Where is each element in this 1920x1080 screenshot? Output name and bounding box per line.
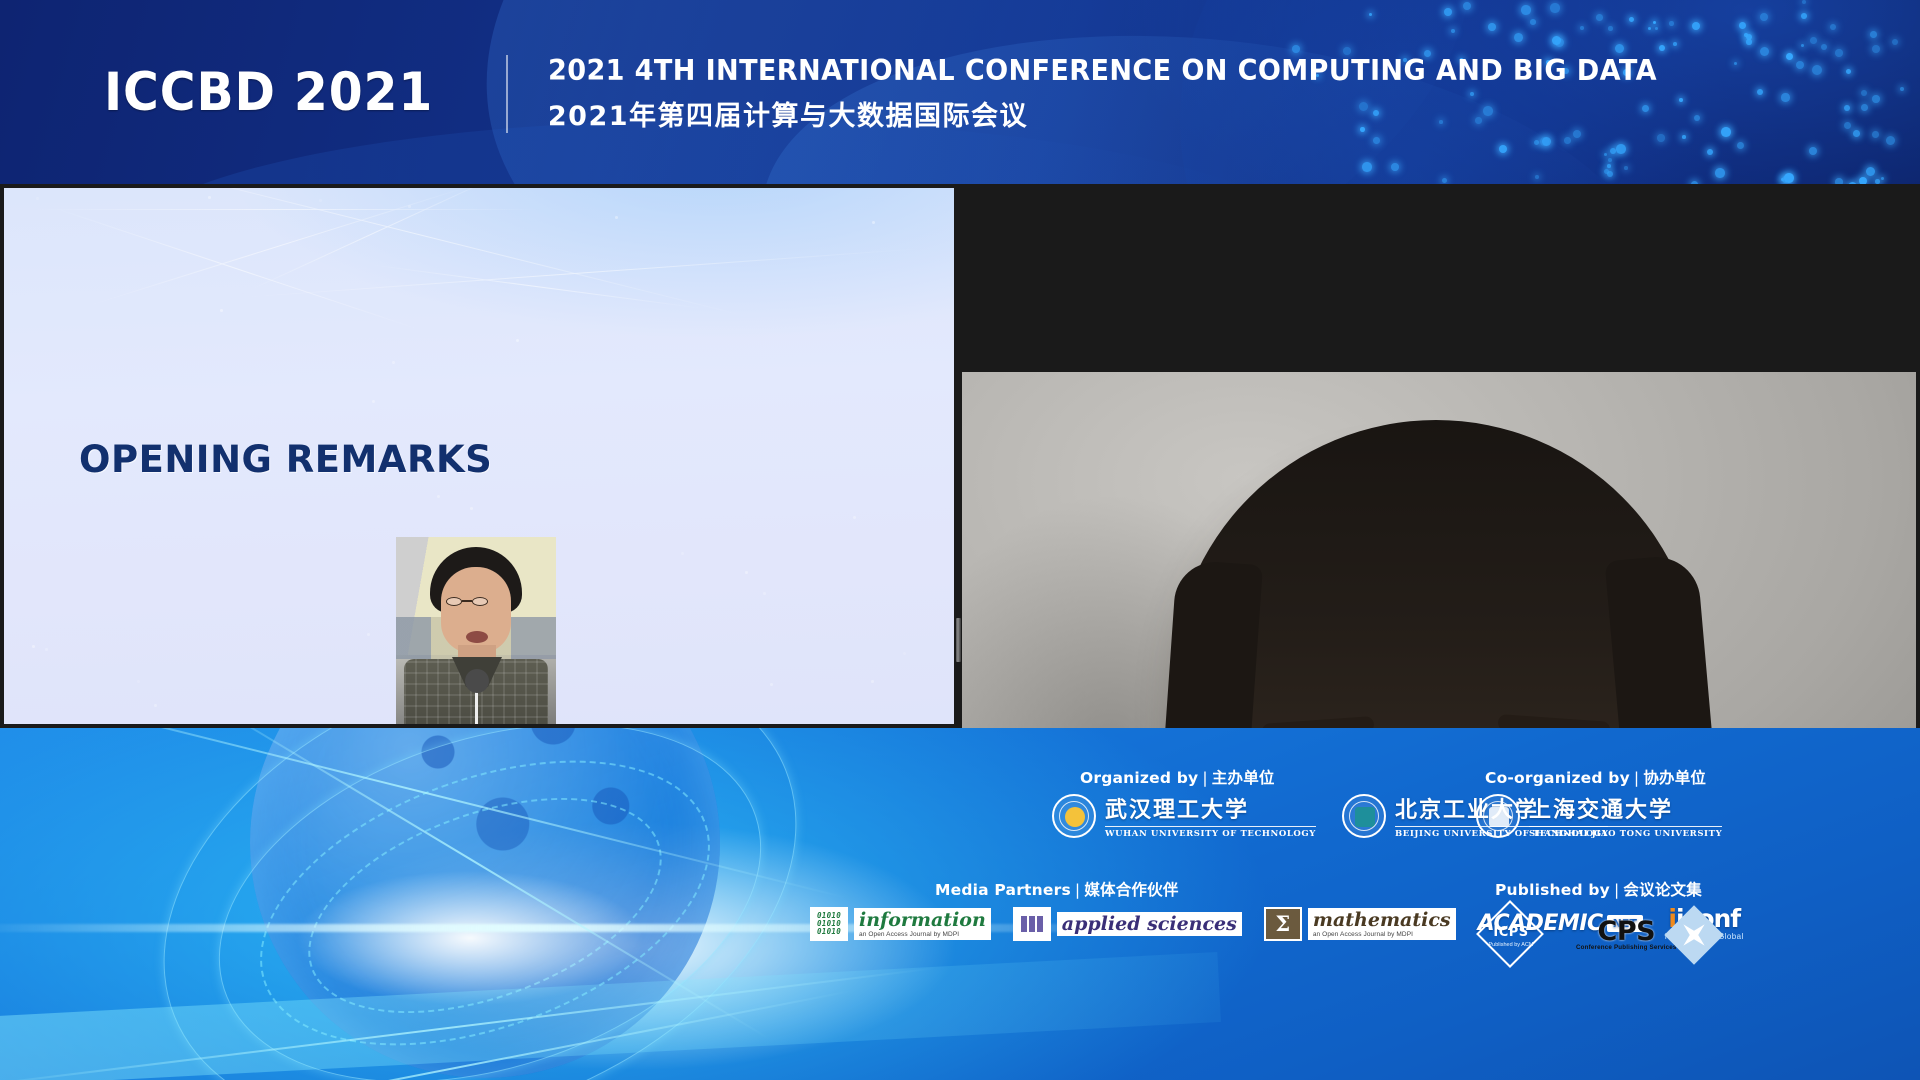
mp-name: information (859, 910, 986, 930)
banner-divider (506, 55, 508, 133)
binary-badge-icon: 010100101001010 (810, 907, 848, 941)
logo-en-name: SHANGHAI JIAO TONG UNIVERSITY (1529, 826, 1722, 839)
logo-icps[interactable]: ICPS Published by ACM (1480, 908, 1542, 962)
sponsor-logo-region: Organized by|主办单位 Co-organized by|协办单位 武… (1080, 728, 1920, 1080)
logo-wuhan-university-of-technology[interactable]: 武汉理工大学 WUHAN UNIVERSITY OF TECHNOLOGY (1052, 792, 1316, 839)
icps-wordmark: ICPS (1480, 925, 1542, 940)
speaker-portrait (396, 537, 556, 724)
logo-cn-name: 武汉理工大学 (1105, 792, 1316, 824)
logo-applied-sciences-journal[interactable]: applied sciences (1013, 907, 1242, 941)
published-by-heading: Published by|会议论文集 (1495, 878, 1702, 900)
coorganized-by-heading: Co-organized by|协办单位 (1485, 766, 1706, 788)
conference-logo: ICCBD 2021 (104, 62, 433, 123)
splitter-grip-icon (956, 618, 961, 662)
cps-wordmark: CPS (1598, 919, 1656, 944)
conference-stream-screen: ICCBD 2021 2021 4TH INTERNATIONAL CONFER… (0, 0, 1920, 1080)
flasks-badge-icon (1013, 907, 1051, 941)
banner-titles: 2021 4TH INTERNATIONAL CONFERENCE ON COM… (548, 54, 1715, 133)
video-stage-area: OPENING REMARKS 09:00-09:05 (0, 184, 1920, 728)
mp-subtitle: an Open Access Journal by MDPI (1313, 931, 1451, 938)
organized-by-heading: Organized by|主办单位 (1080, 766, 1275, 788)
sponsor-footer: Organized by|主办单位 Co-organized by|协办单位 武… (0, 728, 1920, 1080)
coorganizer-logo-row: 上海交通大学 SHANGHAI JIAO TONG UNIVERSITY (1476, 792, 1722, 839)
cps-star-icon (1664, 905, 1723, 964)
mp-name: mathematics (1313, 910, 1451, 930)
logo-cn-name: 上海交通大学 (1529, 792, 1722, 824)
logo-shanghai-jiao-tong-university[interactable]: 上海交通大学 SHANGHAI JIAO TONG UNIVERSITY (1476, 792, 1722, 839)
conference-title-cn: 2021年第四届计算与大数据国际会议 (548, 94, 1715, 133)
presentation-slide: OPENING REMARKS 09:00-09:05 (4, 188, 954, 724)
sigma-badge-icon: Σ (1264, 907, 1302, 941)
logo-en-name: WUHAN UNIVERSITY OF TECHNOLOGY (1105, 826, 1316, 839)
publisher-logo-row: ICPS Published by ACM CPS Conference Pub… (1480, 908, 1715, 962)
cps-subtitle: Conference Publishing Services (1576, 944, 1677, 951)
logo-information-journal[interactable]: 010100101001010 information an Open Acce… (810, 907, 991, 941)
icps-subtitle: Published by ACM (1480, 942, 1542, 948)
logo-mathematics-journal[interactable]: Σ mathematics an Open Access Journal by … (1264, 907, 1456, 941)
logo-cps[interactable]: CPS Conference Publishing Services (1576, 914, 1715, 956)
conference-title-en: 2021 4TH INTERNATIONAL CONFERENCE ON COM… (548, 54, 1657, 87)
conference-banner: ICCBD 2021 2021 4TH INTERNATIONAL CONFER… (0, 0, 1920, 184)
media-partners-heading: Media Partners|媒体合作伙伴 (935, 878, 1179, 900)
shared-screen-pane[interactable]: OPENING REMARKS 09:00-09:05 (4, 188, 954, 724)
mp-name: applied sciences (1062, 914, 1237, 934)
slide-title: OPENING REMARKS (79, 438, 492, 481)
mp-subtitle: an Open Access Journal by MDPI (859, 931, 986, 938)
